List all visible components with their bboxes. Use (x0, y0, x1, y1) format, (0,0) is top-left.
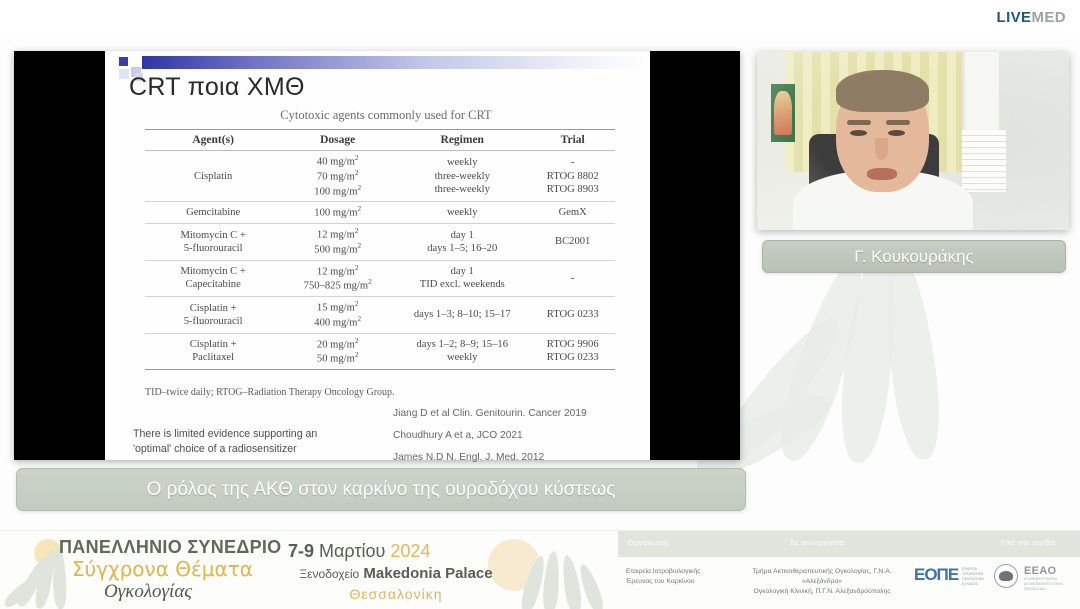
society-seal-icon (994, 564, 1018, 588)
organizer-text-line-2: Έρευνας του Καρκίνου (626, 578, 694, 585)
col-trial: Trial (530, 130, 615, 151)
cell-dosage: 20 mg/m250 mg/m2 (281, 333, 394, 370)
eero-logo: EEAO (1024, 565, 1056, 577)
cell-regimen: day 1days 1–5; 16–20 (394, 224, 530, 261)
congress-line-2: Σύγχρονα Θέματα (72, 557, 253, 581)
cell-agent: Cisplatin (145, 151, 281, 202)
col-regimen: Regimen (394, 130, 530, 151)
event-leaf-3 (560, 554, 584, 609)
cell-agent: Mitomycin C +Capecitabine (145, 260, 281, 297)
speaker-name-text: Γ. Κουκουράκης (854, 247, 974, 267)
congress-logo: ΠΑΝΕΛΛΗΝΙΟ ΣΥΝΕΔΡΙΟ Σύγχρονα Θέματα Ογκο… (12, 533, 302, 609)
reference-item: Choudhury A et a, JCO 2021 (393, 431, 643, 441)
speaker-name-badge: Γ. Κουκουράκης (762, 240, 1066, 273)
col-agents: Agent(s) (145, 130, 281, 151)
event-year: 2024 (390, 541, 430, 561)
eope-logo-subtitle: ΕΤΑΙΡΕΙΑ ΟΓΚΟΛΟΓΩΝ ΠΑΘΟΛΟΓΩΝ ΕΛΛΑΔΟΣ (962, 567, 988, 587)
cell-trial: RTOG 0233 (530, 297, 615, 334)
col-dosage: Dosage (281, 130, 394, 151)
eero-logo-subtitle: ΕΛΛΗΝΙΚΗ ΕΤΑΙΡΕΙΑ ΑΚΤΙΝΟΘΕΡΑΠΕΥΤΙΚΗΣ ΟΓΚ… (1024, 577, 1076, 592)
table-row: Mitomycin C +5-fluorouracil12 mg/m2500 m… (145, 224, 615, 261)
table-header-row: Agent(s) Dosage Regimen Trial (145, 130, 615, 151)
slide-note: There is limited evidence supporting an … (133, 427, 363, 458)
cell-trial: RTOG 9906RTOG 0233 (530, 333, 615, 370)
congress-line-1: ΠΑΝΕΛΛΗΝΙΟ ΣΥΝΕΔΡΙΟ (59, 537, 281, 558)
decor-bar-gradient (142, 56, 650, 69)
event-dates: 7-9 Μαρτίου 2024 (288, 541, 430, 562)
cell-trial: -RTOG 8802RTOG 8903 (530, 151, 615, 202)
cell-dosage: 12 mg/m2500 mg/m2 (281, 224, 394, 261)
footer-bar: ΠΑΝΕΛΛΗΝΙΟ ΣΥΝΕΔΡΙΟ Σύγχρονα Θέματα Ογκο… (0, 530, 1080, 609)
cell-trial: BC2001 (530, 224, 615, 261)
cell-trial: GemX (530, 202, 615, 224)
cell-dosage: 40 mg/m270 mg/m2100 mg/m2 (281, 151, 394, 202)
decor-square-3 (119, 69, 129, 79)
auspices-label: Υπό την αιγίδα: (1000, 538, 1057, 547)
event-month: Μαρτίου (319, 541, 385, 561)
eope-logo: EOΠE (914, 565, 958, 585)
collab-text-line-1: Τμήμα Ακτινοθεραπευτικής Ογκολογίας, Γ.Ν… (752, 568, 891, 585)
collab-label: Σε συνεργασία: (790, 538, 847, 547)
congress-line-3: Ογκολογίας (104, 581, 192, 603)
cell-dosage: 100 mg/m2 (281, 202, 394, 224)
table-row: Gemcitabine100 mg/m2weeklyGemX (145, 202, 615, 224)
speaker-video-feed[interactable] (757, 52, 1069, 230)
table-row: Cisplatin +Paclitaxel20 mg/m250 mg/m2day… (145, 333, 615, 370)
cell-agent: Cisplatin +Paclitaxel (145, 333, 281, 370)
event-venue: Ξενοδοχείο Makedonia Palace (266, 565, 526, 582)
credits-panel: Οργάνωση: Σε συνεργασία: Υπό την αιγίδα:… (618, 531, 1080, 609)
cell-regimen: days 1–2; 8–9; 15–16weekly (394, 333, 530, 370)
event-venue-name: Makedonia Palace (363, 565, 492, 582)
table-row: Mitomycin C +Capecitabine12 mg/m2750–825… (145, 260, 615, 297)
cell-trial: - (530, 260, 615, 297)
slide-note-line-2: 'optimal' choice of a radiosensitizer (133, 443, 297, 455)
reference-item: Jiang D et al Clin. Genitourin. Cancer 2… (393, 409, 643, 419)
event-date-block: 7-9 Μαρτίου 2024 Ξενοδοχείο Makedonia Pa… (288, 537, 618, 607)
decor-square-1 (119, 57, 128, 66)
video-vignette (757, 52, 1069, 230)
cell-regimen: weekly (394, 202, 530, 224)
event-city: Θεσσαλονίκη (266, 586, 526, 602)
cell-dosage: 15 mg/m2400 mg/m2 (281, 297, 394, 334)
cell-regimen: day 1TID excl. weekends (394, 260, 530, 297)
slide-note-line-1: There is limited evidence supporting an (133, 428, 317, 440)
organizer-text-line-1: Εταιρεία Ιατροβιολογικής (626, 568, 700, 575)
livemed-logo-med: MED (1031, 9, 1066, 26)
collab-text-line-2: Ογκολογική Κλινική, Π.Γ.Ν. Αλεξανδρούπολ… (754, 588, 891, 595)
table-row: Cisplatin40 mg/m270 mg/m2100 mg/m2weekly… (145, 151, 615, 202)
cell-agent: Mitomycin C +5-fluorouracil (145, 224, 281, 261)
organizer-text: Εταιρεία Ιατροβιολογικής Έρευνας του Καρ… (626, 567, 736, 587)
talk-title-banner: Ο ρόλος της ΑΚΘ στον καρκίνο της ουροδόχ… (16, 468, 746, 511)
livemed-logo: LIVEMED (997, 9, 1067, 26)
cell-agent: Cisplatin +5-fluorouracil (145, 297, 281, 334)
reference-item: James N.D N. Engl. J. Med. 2012 (393, 453, 643, 463)
cell-regimen: weeklythree-weeklythree-weekly (394, 151, 530, 202)
presentation-slide-viewer[interactable]: CRT ποια ΧΜΘ Cytotoxic agents commonly u… (14, 51, 740, 460)
table-footnote: TID–twice daily; RTOG–Radiation Therapy … (145, 387, 395, 398)
event-leaf-2 (542, 551, 561, 609)
event-dates-range: 7-9 (288, 541, 314, 561)
top-bar: LIVEMED (0, 0, 1080, 34)
auspices-logos: EOΠE ΕΤΑΙΡΕΙΑ ΟΓΚΟΛΟΓΩΝ ΠΑΘΟΛΟΓΩΝ ΕΛΛΑΔΟ… (914, 561, 1080, 595)
cytotoxic-agents-table: Agent(s) Dosage Regimen Trial Cisplatin4… (145, 129, 615, 370)
cell-agent: Gemcitabine (145, 202, 281, 224)
cell-regimen: days 1–3; 8–10; 15–17 (394, 297, 530, 334)
table-row: Cisplatin +5-fluorouracil15 mg/m2400 mg/… (145, 297, 615, 334)
cell-dosage: 12 mg/m2750–825 mg/m2 (281, 260, 394, 297)
livemed-logo-live: LIVE (997, 9, 1032, 26)
slide-canvas: CRT ποια ΧΜΘ Cytotoxic agents commonly u… (105, 51, 650, 460)
table-caption: Cytotoxic agents commonly used for CRT (151, 108, 621, 123)
organizer-label: Οργάνωση: (628, 538, 670, 547)
event-venue-prefix: Ξενοδοχείο (299, 567, 359, 581)
talk-title-text: Ο ρόλος της ΑΚΘ στον καρκίνο της ουροδόχ… (147, 479, 616, 501)
collab-text: Τμήμα Ακτινοθεραπευτικής Ογκολογίας, Γ.Ν… (736, 567, 908, 597)
slide-title: CRT ποια ΧΜΘ (129, 73, 305, 102)
